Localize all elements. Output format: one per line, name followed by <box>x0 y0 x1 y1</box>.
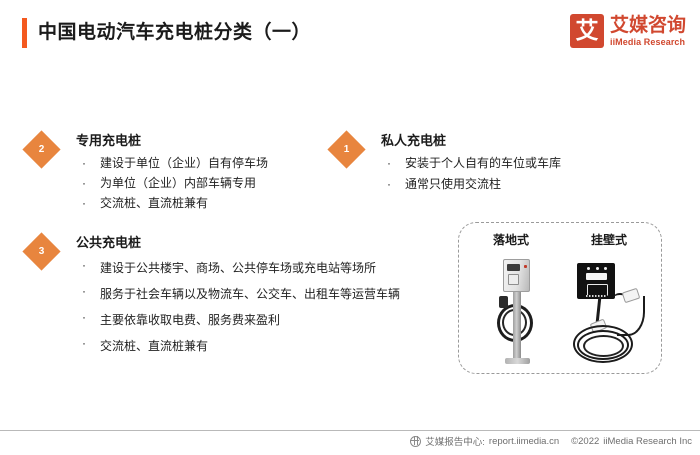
cable-coil-inner <box>583 335 624 357</box>
list-item: ·交流桩、直流桩兼有 <box>76 193 268 213</box>
bullet-dot-icon: · <box>82 255 86 275</box>
footer-url[interactable]: report.iimedia.cn <box>489 436 559 447</box>
list-item-text: 交流桩、直流桩兼有 <box>100 339 208 353</box>
list-item: ·主要依靠收取电费、服务费来盈利 <box>76 307 400 333</box>
footer-company: iiMedia Research Inc <box>603 436 692 447</box>
logo-mark-icon: 艾 <box>570 14 604 48</box>
bullet-dot-icon: · <box>82 153 86 173</box>
section-heading: 私人充电桩 <box>381 130 561 149</box>
list-item-text: 为单位（企业）内部车辆专用 <box>100 176 256 190</box>
bullet-dot-icon: · <box>82 193 86 213</box>
section-number: 3 <box>28 238 55 265</box>
brand-logo: 艾 艾媒咨询 iiMedia Research <box>570 14 686 48</box>
section-body: 专用充电桩 ·建设于单位（企业）自有停车场 ·为单位（企业）内部车辆专用 ·交流… <box>76 130 268 213</box>
section-number: 2 <box>28 136 55 163</box>
charger-head-unit <box>503 259 530 292</box>
list-item-text: 交流桩、直流桩兼有 <box>100 196 208 210</box>
footer-source-label: 艾媒报告中心: <box>425 434 485 448</box>
charging-connector <box>499 296 508 308</box>
charger-illustration-panel: 落地式 挂壁式 <box>458 222 662 374</box>
wall-mounted-charger-icon <box>571 263 657 367</box>
section-heading: 公共充电桩 <box>76 232 400 251</box>
footer-copyright: ©2022 <box>571 436 599 447</box>
card-reader-slot <box>508 274 519 285</box>
section-number: 1 <box>333 136 360 163</box>
list-item: ·服务于社会车辆以及物流车、公交车、出租车等运营车辆 <box>76 281 400 307</box>
section-body: 私人充电桩 ·安装于个人自有的车位或车库 ·通常只使用交流柱 <box>381 130 561 195</box>
indicator-lights-icon <box>587 267 607 270</box>
logo-brand-cn: 艾媒咨询 <box>610 16 686 35</box>
logo-brand-en: iiMedia Research <box>610 38 686 47</box>
logo-glyph: 艾 <box>570 14 604 48</box>
bullet-dot-icon: · <box>82 173 86 193</box>
list-item: ·安装于个人自有的车位或车库 <box>381 153 561 174</box>
footer-divider <box>0 430 700 431</box>
vent-grill <box>586 295 607 297</box>
floor-mounted-label: 落地式 <box>471 231 551 248</box>
logo-wordmark: 艾媒咨询 iiMedia Research <box>610 16 686 47</box>
bullet-dot-icon: · <box>82 333 86 353</box>
section-body: 公共充电桩 ·建设于公共楼宇、商场、公共停车场或充电站等场所 ·服务于社会车辆以… <box>76 232 400 359</box>
title-accent-bar <box>22 18 27 48</box>
bullet-list: ·安装于个人自有的车位或车库 ·通常只使用交流柱 <box>381 153 561 195</box>
list-item: ·通常只使用交流柱 <box>381 174 561 195</box>
page-title: 中国电动汽车充电桩分类（一） <box>38 17 311 44</box>
slide-canvas: 中国电动汽车充电桩分类（一） 艾 艾媒咨询 iiMedia Research 2… <box>0 0 700 455</box>
list-item-text: 建设于单位（企业）自有停车场 <box>100 156 268 170</box>
status-led-icon <box>524 265 527 268</box>
floor-standing-charger-icon <box>487 259 557 367</box>
bullet-dot-icon: · <box>82 307 86 327</box>
charger-pole <box>513 292 521 360</box>
charger-display <box>586 273 607 280</box>
list-item: ·建设于公共楼宇、商场、公共停车场或充电站等场所 <box>76 255 400 281</box>
charger-display <box>507 264 520 271</box>
bullet-list: ·建设于单位（企业）自有停车场 ·为单位（企业）内部车辆专用 ·交流桩、直流桩兼… <box>76 153 268 213</box>
list-item: ·建设于单位（企业）自有停车场 <box>76 153 268 173</box>
list-item: ·交流桩、直流桩兼有 <box>76 333 400 359</box>
bullet-dot-icon: · <box>387 174 391 194</box>
list-item-text: 服务于社会车辆以及物流车、公交车、出租车等运营车辆 <box>100 287 400 301</box>
list-item-text: 主要依靠收取电费、服务费来盈利 <box>100 313 280 327</box>
slide-footer: 艾媒报告中心: report.iimedia.cn ©2022 iiMedia … <box>410 434 692 448</box>
list-item-text: 建设于公共楼宇、商场、公共停车场或充电站等场所 <box>100 261 376 275</box>
bullet-dot-icon: · <box>82 281 86 301</box>
globe-icon <box>410 436 421 447</box>
charger-head-unit <box>577 263 615 299</box>
section-heading: 专用充电桩 <box>76 130 268 149</box>
list-item-text: 安装于个人自有的车位或车库 <box>405 156 561 170</box>
bullet-dot-icon: · <box>387 153 391 173</box>
wall-mounted-label: 挂壁式 <box>569 231 649 248</box>
list-item-text: 通常只使用交流柱 <box>405 177 501 191</box>
charger-base <box>505 358 530 364</box>
slide-header: 中国电动汽车充电桩分类（一） 艾 艾媒咨询 iiMedia Research <box>0 0 700 68</box>
bullet-list: ·建设于公共楼宇、商场、公共停车场或充电站等场所 ·服务于社会车辆以及物流车、公… <box>76 255 400 359</box>
list-item: ·为单位（企业）内部车辆专用 <box>76 173 268 193</box>
